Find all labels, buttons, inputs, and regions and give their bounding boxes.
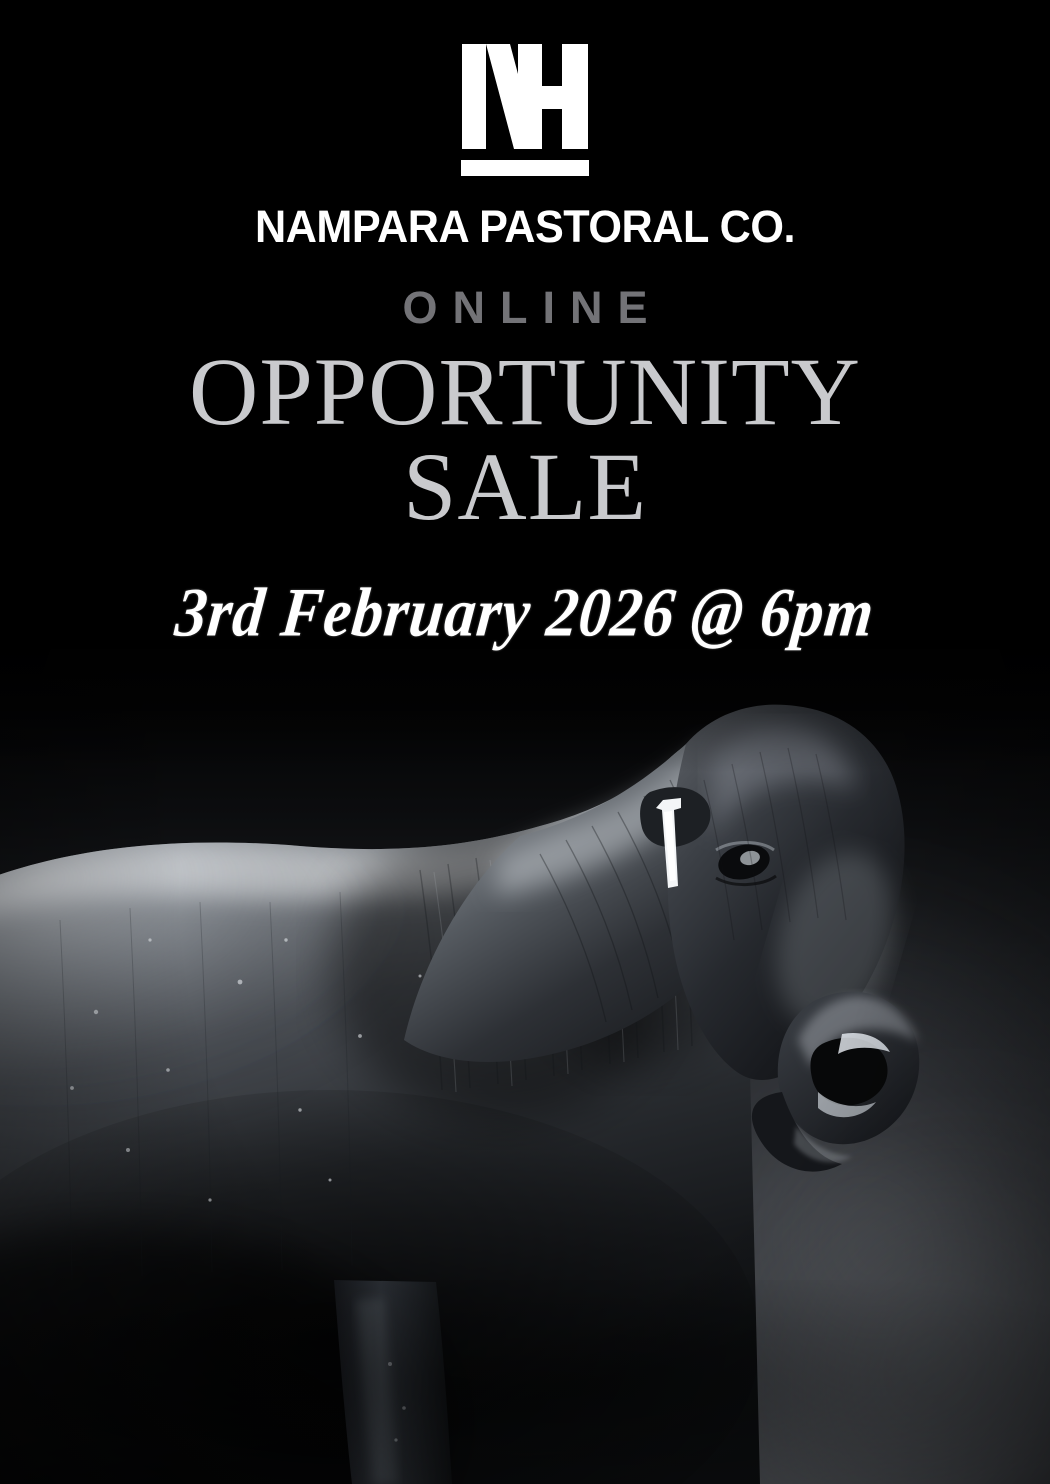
sale-poster: NAMPARA PASTORAL CO. ONLINE OPPORTUNITY …	[0, 0, 1050, 1484]
company-name: NAMPARA PASTORAL CO.	[21, 204, 1029, 249]
logo-underline-bar	[461, 160, 589, 176]
sale-date-time: 3rd February 2026 @ 6pm	[0, 579, 1050, 648]
headline-opportunity: OPPORTUNITY	[0, 346, 1050, 437]
nh-monogram-icon	[460, 44, 590, 149]
brand-logo[interactable]	[0, 0, 1050, 176]
poster-header: NAMPARA PASTORAL CO. ONLINE OPPORTUNITY …	[0, 0, 1050, 644]
headline-sale: SALE	[0, 441, 1050, 532]
kicker-online: ONLINE	[0, 285, 1050, 330]
